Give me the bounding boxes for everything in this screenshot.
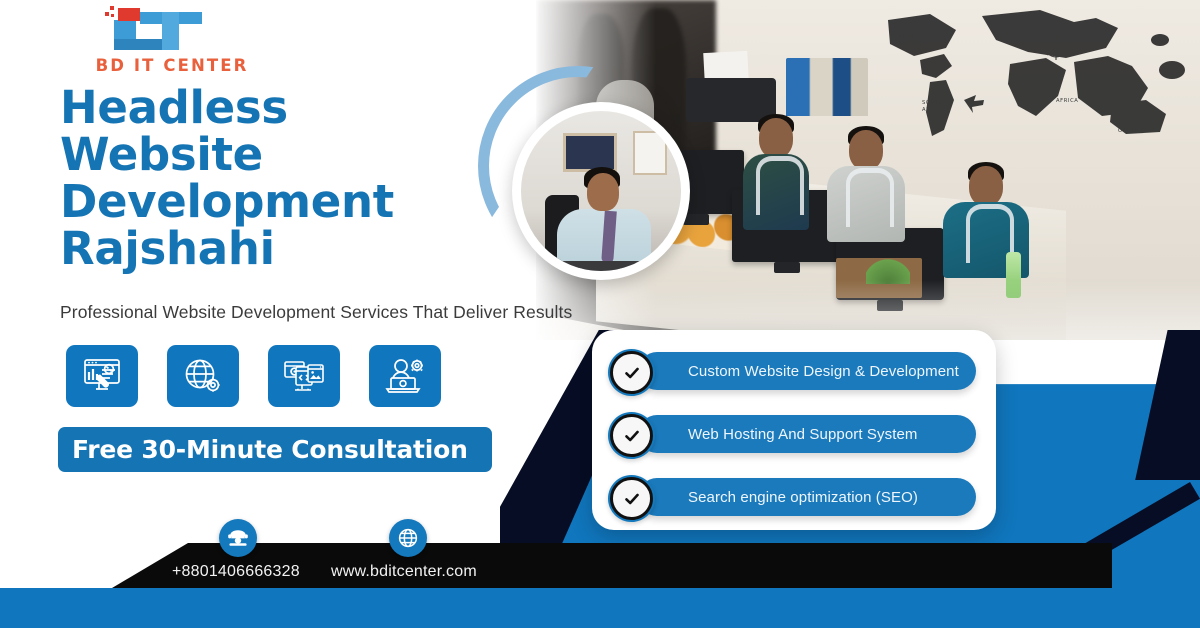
feature-pill[interactable]: Search engine optimization (SEO) xyxy=(638,478,976,516)
consultation-cta-button[interactable]: Free 30-Minute Consultation xyxy=(58,427,492,472)
bottom-accent-bar xyxy=(0,588,1200,628)
support-agent-laptop-icon xyxy=(385,358,425,394)
check-circle-icon xyxy=(608,349,655,396)
service-tiles xyxy=(66,345,441,407)
feature-label: Custom Website Design & Development xyxy=(638,363,959,380)
portrait-desk xyxy=(521,261,681,271)
cta-label: Free 30-Minute Consultation xyxy=(58,435,468,464)
svg-text:OCEANIA: OCEANIA xyxy=(1118,128,1146,134)
page-subtitle: Professional Website Development Service… xyxy=(60,302,580,323)
portrait-head xyxy=(587,173,619,211)
feature-label: Web Hosting And Support System xyxy=(638,426,918,443)
phone-number[interactable]: +8801406666328 xyxy=(172,563,300,581)
feature-item[interactable]: Web Hosting And Support System xyxy=(592,409,996,463)
portrait-frame xyxy=(512,102,690,280)
telephone-icon[interactable] xyxy=(219,519,257,557)
website-url[interactable]: www.bditcenter.com xyxy=(331,563,477,581)
service-tile-global-solutions[interactable] xyxy=(167,345,239,407)
marketing-banner: NORTHAMERICA SOUTHAMERICA AFRICA OCEANIA xyxy=(0,0,1200,628)
wall-photo-frame xyxy=(563,133,617,172)
desk-plant xyxy=(866,250,910,284)
page-title: Headless Website Development Rajshahi xyxy=(60,84,500,272)
feature-item[interactable]: Custom Website Design & Development xyxy=(592,346,996,400)
check-circle-icon xyxy=(608,412,655,459)
feature-pill[interactable]: Custom Website Design & Development xyxy=(638,352,976,390)
web-design-screens-icon xyxy=(283,358,325,394)
service-tile-web-design[interactable] xyxy=(268,345,340,407)
feature-item[interactable]: Search engine optimization (SEO) xyxy=(592,472,996,526)
analytics-monitor-wrench-icon xyxy=(82,358,122,394)
svg-text:AMERICA: AMERICA xyxy=(898,41,926,47)
lt-monogram-icon xyxy=(102,6,220,54)
logo-wordmark: BD IT CENTER xyxy=(86,56,258,75)
telephone-glyph xyxy=(227,528,249,548)
brand-logo[interactable]: BD IT CENTER xyxy=(86,6,266,76)
svg-text:NORTH: NORTH xyxy=(898,34,919,40)
globe-icon[interactable] xyxy=(389,519,427,557)
avatar xyxy=(521,111,681,271)
wall-certificate xyxy=(633,131,667,175)
svg-text:AMERICA: AMERICA xyxy=(922,107,950,113)
svg-text:SOUTH: SOUTH xyxy=(922,100,943,106)
feature-pill[interactable]: Web Hosting And Support System xyxy=(638,415,976,453)
file-folders xyxy=(786,58,868,116)
features-card: Custom Website Design & Development Web … xyxy=(592,330,996,530)
world-map-decal: NORTHAMERICA SOUTHAMERICA AFRICA OCEANIA xyxy=(860,4,1190,154)
printer xyxy=(686,78,776,122)
service-tile-seo-analytics[interactable] xyxy=(66,345,138,407)
service-tile-support[interactable] xyxy=(369,345,441,407)
check-circle-icon xyxy=(608,475,655,522)
svg-text:AFRICA: AFRICA xyxy=(1056,98,1078,104)
globe-glyph xyxy=(397,527,419,549)
globe-gear-icon xyxy=(183,358,223,394)
feature-label: Search engine optimization (SEO) xyxy=(638,489,918,506)
